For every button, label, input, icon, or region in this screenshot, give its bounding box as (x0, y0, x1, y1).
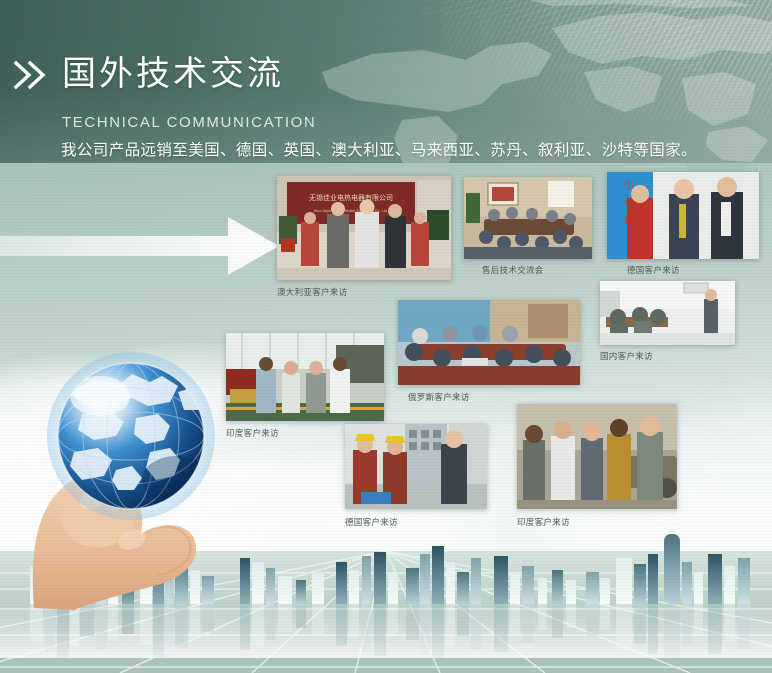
photo-image (517, 404, 677, 509)
photo-image (345, 424, 487, 509)
photo-australia-visit[interactable]: 无锡佳业电热电器有限公司 Wuxi Jiaye Electric Heater … (277, 176, 451, 280)
photo-india-visit-1[interactable] (226, 333, 384, 421)
photo-caption-russia-visit: 俄罗斯客户来访 (408, 391, 470, 403)
photo-india-visit-2[interactable] (517, 404, 677, 509)
photo-russia-visit[interactable] (398, 300, 580, 385)
poster-canvas: 国外技术交流 TECHNICAL COMMUNICATION 我公司产品远销至美… (0, 0, 772, 673)
page-description: 我公司产品远销至美国、德国、英国、澳大利亚、马来西亚、苏丹、叙利亚、沙特等国家。 (61, 138, 697, 160)
photo-image: 无锡佳业电热电器有限公司 Wuxi Jiaye Electric Heater … (277, 176, 451, 280)
hand-holding-blue-globe-icon (28, 340, 238, 610)
signboard-cn: 无锡佳业电热电器有限公司 (309, 193, 393, 202)
photo-image (226, 333, 384, 421)
page-header: 国外技术交流 TECHNICAL COMMUNICATION 我公司产品远销至美… (0, 0, 772, 163)
diagonal-halftone-stripes-secondary-icon (422, 0, 702, 70)
photo-caption-domestic-visit: 国内客户来访 (600, 350, 653, 362)
photo-caption-india-visit-2: 印度客户来访 (517, 516, 570, 528)
photo-image (398, 300, 580, 385)
double-chevron-right-icon (12, 58, 52, 92)
photo-after-sales-tech[interactable] (464, 177, 592, 259)
photo-caption-after-sales-tech: 售后技术交流会 (482, 264, 544, 276)
photo-caption-australia-visit: 澳大利亚客户来访 (277, 286, 347, 298)
photo-germany-visit-1[interactable]: 小 卓 越 (607, 172, 759, 259)
page-title: 国外技术交流 (62, 46, 284, 95)
photo-image (600, 281, 735, 345)
photo-caption-germany-visit-2: 德国客户来访 (345, 516, 398, 528)
photo-germany-visit-2[interactable] (345, 424, 487, 509)
photo-domestic-visit[interactable] (600, 281, 735, 345)
right-arrow-icon (0, 214, 280, 278)
photo-image: 小 卓 越 (607, 172, 759, 259)
page-subtitle: TECHNICAL COMMUNICATION (62, 114, 316, 131)
photo-image (464, 177, 592, 259)
photo-caption-germany-visit-1: 德国客户来访 (627, 264, 680, 276)
